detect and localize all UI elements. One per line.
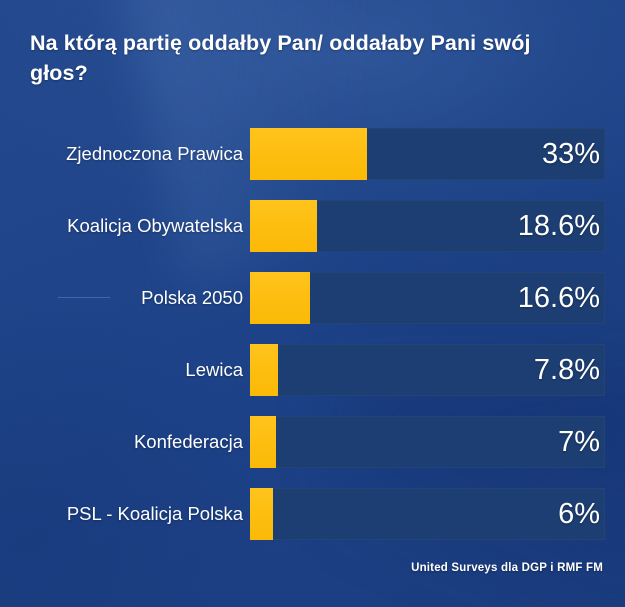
bar-track: 7.8% [250,344,605,396]
bar-value-label: 7.8% [534,344,600,396]
bar-track: 7% [250,416,605,468]
bar-row: Konfederacja 7% [0,416,625,468]
bar-track: 6% [250,488,605,540]
bar-row-label: Koalicja Obywatelska [0,200,243,252]
bar-track: 18.6% [250,200,605,252]
bar-fill [250,488,273,540]
poll-chart: Na którą partię oddałby Pan/ oddałaby Pa… [0,0,625,607]
bar-value-label: 18.6% [518,200,600,252]
bar-track: 16.6% [250,272,605,324]
bar-row-label: Lewica [0,344,243,396]
bar-row-label: PSL - Koalicja Polska [0,488,243,540]
bar-value-label: 6% [558,488,600,540]
bar-row: PSL - Koalicja Polska 6% [0,488,625,540]
bar-row: Koalicja Obywatelska 18.6% [0,200,625,252]
bar-fill [250,344,278,396]
bar-row: Zjednoczona Prawica 33% [0,128,625,180]
bar-fill [250,200,317,252]
bar-rows: Zjednoczona Prawica 33% Koalicja Obywate… [0,128,625,560]
bar-value-label: 16.6% [518,272,600,324]
source-credit: United Surveys dla DGP i RMF FM [411,562,603,574]
bar-value-label: 33% [542,128,600,180]
chart-title: Na którą partię oddałby Pan/ oddałaby Pa… [30,28,590,88]
bar-fill [250,416,276,468]
bar-row: Polska 2050 16.6% [0,272,625,324]
bar-row: Lewica 7.8% [0,344,625,396]
bar-value-label: 7% [558,416,600,468]
bar-row-label: Polska 2050 [0,272,243,324]
bar-row-label: Konfederacja [0,416,243,468]
bar-track: 33% [250,128,605,180]
bar-fill [250,128,367,180]
bar-row-label: Zjednoczona Prawica [0,128,243,180]
bar-fill [250,272,310,324]
